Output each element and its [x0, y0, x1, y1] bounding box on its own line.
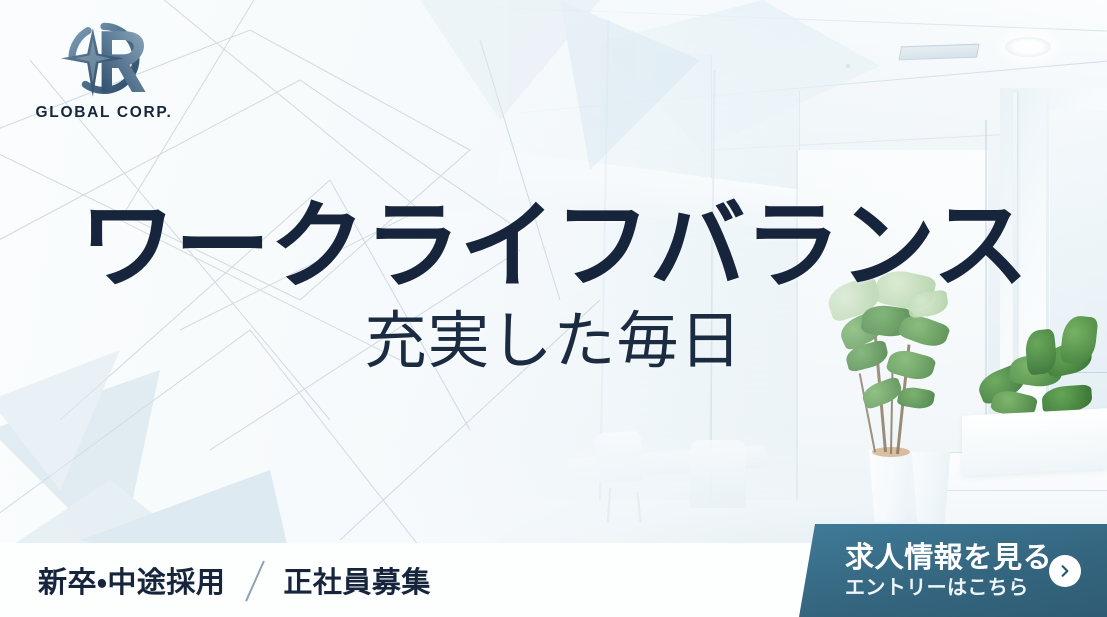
tag-fulltime-recruiting: 正社員募集 — [283, 559, 431, 601]
brand-name: GLOBAL CORP. — [24, 104, 184, 122]
tag-new-grad-midcareer: 新卒・中途採用 — [38, 559, 225, 601]
cta-sub-label: エントリーはこちら — [845, 575, 1052, 600]
brand-logo[interactable]: GLOBAL CORP. — [24, 18, 184, 122]
page-subtitle: 充実した毎日 — [0, 308, 1107, 373]
slash-divider-icon — [225, 557, 283, 603]
chevron-right-icon[interactable] — [1049, 555, 1081, 587]
recruit-hero-banner: GLOBAL CORP. ワークライフバランス 充実した毎日 新卒・中途採用 正… — [0, 0, 1107, 617]
page-title: ワークライフバランス — [0, 198, 1107, 296]
view-jobs-cta-button[interactable]: 求人情報を見る エントリーはこちら — [799, 524, 1107, 617]
chevron-right-glyph — [1058, 564, 1072, 578]
hero-headline-group: ワークライフバランス 充実した毎日 — [0, 198, 1107, 373]
cta-main-label: 求人情報を見る — [845, 541, 1052, 573]
compass-star-r-logo-icon — [56, 18, 152, 102]
cta-text-group: 求人情報を見る エントリーはこちら — [845, 541, 1052, 600]
recruitment-tags: 新卒・中途採用 正社員募集 — [38, 557, 431, 603]
